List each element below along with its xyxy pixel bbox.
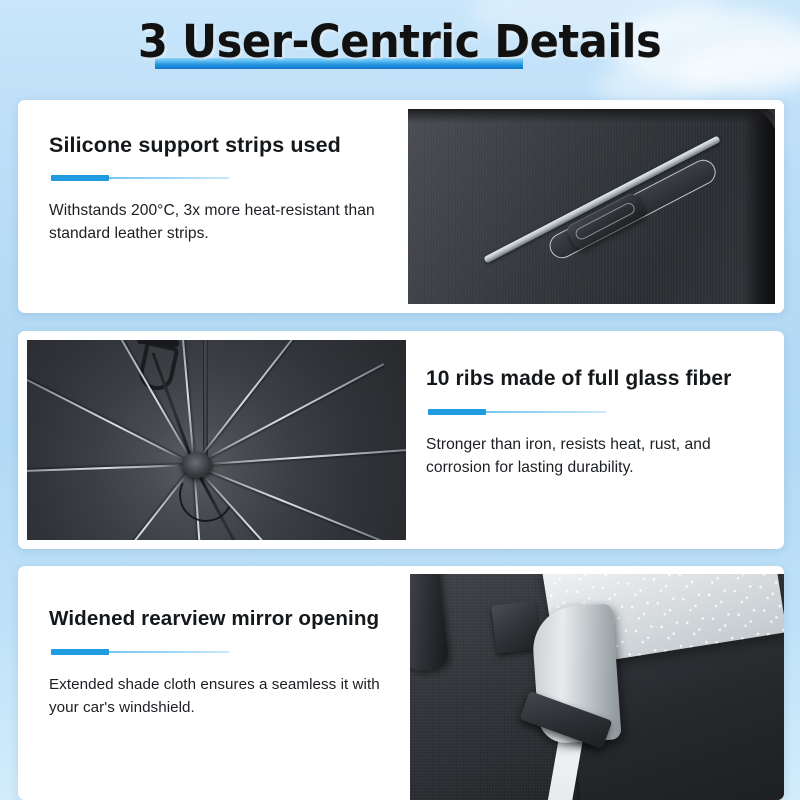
title-wrap: 3 User-Centric Details — [127, 16, 672, 68]
card-body: Extended shade cloth ensures a seamless … — [49, 674, 390, 719]
page-title: 3 User-Centric Details — [138, 16, 661, 68]
feature-card-glass-fiber-ribs: 10 ribs made of full glass fiber Stronge… — [18, 331, 784, 549]
divider-solid-segment — [51, 175, 109, 181]
divider-line-segment — [486, 411, 606, 413]
card-media — [18, 331, 406, 549]
feature-card-silicone-strips: Silicone support strips used Withstands … — [18, 100, 784, 313]
divider — [51, 175, 229, 181]
card-text-block: Widened rearview mirror opening Extended… — [18, 566, 410, 800]
card-body: Withstands 200°C, 3x more heat-resistant… — [49, 200, 388, 245]
card-media — [410, 566, 784, 800]
panel-top-edge — [408, 109, 775, 123]
silicone-strip-photo — [408, 109, 775, 304]
card-body: Stronger than iron, resists heat, rust, … — [426, 434, 764, 479]
umbrella-rib-photo — [27, 340, 406, 540]
divider — [51, 649, 229, 655]
rearview-mirror-strap-photo — [410, 574, 784, 800]
card-media — [408, 100, 784, 313]
infographic-page: 3 User-Centric Details Silicone support … — [0, 0, 800, 800]
card-heading: Silicone support strips used — [49, 132, 388, 158]
divider-line-segment — [109, 177, 229, 179]
umbrella-hub — [182, 452, 212, 478]
panel-right-edge — [743, 109, 775, 304]
card-heading: Widened rearview mirror opening — [49, 606, 390, 632]
header: 3 User-Centric Details — [0, 16, 800, 68]
card-heading: 10 ribs made of full glass fiber — [426, 366, 764, 392]
feature-card-rearview-mirror-opening: Widened rearview mirror opening Extended… — [18, 566, 784, 800]
divider-solid-segment — [428, 409, 486, 415]
card-text-block: 10 ribs made of full glass fiber Stronge… — [406, 331, 784, 549]
card-text-block: Silicone support strips used Withstands … — [18, 100, 408, 313]
divider-line-segment — [109, 651, 229, 653]
divider-solid-segment — [51, 649, 109, 655]
divider — [428, 409, 606, 415]
